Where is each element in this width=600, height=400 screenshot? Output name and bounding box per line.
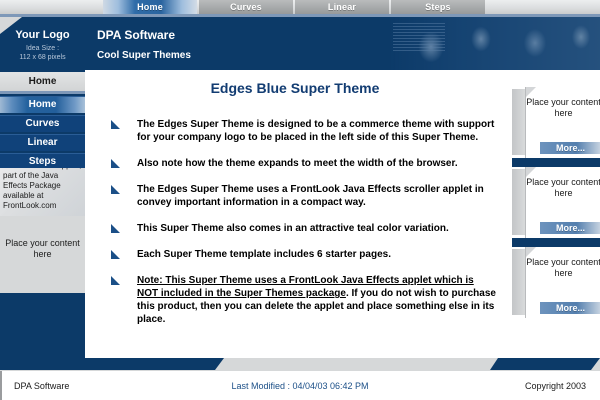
scroller-applet-text: Linear Scroller Applet, part of the Java… — [3, 168, 83, 211]
bullet-text: Also note how the theme expands to meet … — [137, 158, 458, 169]
list-item: The Edges Super Theme uses a FrontLook J… — [111, 183, 496, 209]
right-panel-separator — [512, 158, 600, 167]
more-button[interactable]: More... — [540, 302, 600, 314]
triangle-bullet-icon — [111, 185, 120, 194]
list-item: Each Super Theme template includes 6 sta… — [111, 248, 496, 261]
sidebar-item-linear[interactable]: Linear — [0, 134, 85, 151]
triangle-bullet-icon — [111, 276, 120, 285]
triangle-bullet-icon — [111, 120, 120, 129]
sidebar-item-curves[interactable]: Curves — [0, 115, 85, 132]
top-tab-home[interactable]: Home — [103, 0, 197, 14]
list-item-note: Note: This Super Theme uses a FrontLook … — [111, 274, 496, 326]
sidebar-placeholder-text: Place your content here — [0, 238, 85, 260]
sidebar-header-rule — [0, 91, 85, 94]
triangle-bullet-icon — [111, 159, 120, 168]
bullet-text: The Edges Super Theme is designed to be … — [137, 119, 494, 143]
right-panel-text: Place your content here — [526, 177, 600, 199]
logo-size-label: Idea Size : — [0, 44, 85, 53]
top-tab-list: Home Curves Linear Steps — [103, 0, 487, 14]
top-navigation-bar: Home Curves Linear Steps — [0, 0, 600, 14]
footer-row: DPA Software Last Modified : 04/04/03 06… — [0, 371, 600, 400]
top-tab-linear[interactable]: Linear — [295, 0, 389, 14]
right-panel-separator — [512, 238, 600, 247]
corner-notch-shape — [0, 17, 22, 34]
header-banner: DPA Software Cool Super Themes — [85, 17, 600, 70]
footer-left-edge-rule — [0, 371, 2, 400]
list-item: The Edges Super Theme is designed to be … — [111, 118, 496, 144]
right-panel-2: Place your content here More... — [512, 167, 600, 238]
bullet-text-note: Note: This Super Theme uses a FrontLook … — [137, 275, 496, 325]
more-button[interactable]: More... — [540, 222, 600, 234]
right-panel-box: Place your content here More... — [525, 87, 600, 158]
sidebar-menu: Home Curves Linear Steps — [0, 96, 85, 172]
footer-bar-right-shape — [498, 358, 591, 370]
right-panel-text: Place your content here — [526, 97, 600, 119]
sidebar-header: Home — [0, 72, 85, 91]
right-panel-edge — [512, 89, 525, 155]
right-panel-3: Place your content here More... — [512, 247, 600, 318]
scroller-applet: Linear Scroller Applet, part of the Java… — [0, 168, 85, 216]
logo-size-value: 112 x 68 pixels — [0, 53, 85, 62]
right-panel-box: Place your content here More... — [525, 167, 600, 238]
banner-company-name: DPA Software — [97, 28, 175, 42]
footer-copyright: Copyright 2003 — [525, 381, 586, 391]
right-panel-edge — [512, 249, 525, 315]
triangle-bullet-icon — [111, 224, 120, 233]
right-panel-box: Place your content here More... — [525, 247, 600, 318]
page-title: Edges Blue Super Theme — [85, 80, 505, 96]
top-tab-steps[interactable]: Steps — [391, 0, 485, 14]
more-button[interactable]: More... — [540, 142, 600, 154]
logo-size-hint: Idea Size : 112 x 68 pixels — [0, 44, 85, 62]
page-root: Home Curves Linear Steps Your Logo Idea … — [0, 0, 600, 400]
banner-photo-image — [385, 17, 600, 70]
bullet-text: The Edges Super Theme uses a FrontLook J… — [137, 184, 484, 208]
top-tab-curves[interactable]: Curves — [199, 0, 293, 14]
bullet-text: Each Super Theme template includes 6 sta… — [137, 249, 391, 260]
sidebar-item-home[interactable]: Home — [0, 96, 85, 113]
banner-tagline: Cool Super Themes — [97, 50, 191, 61]
bullet-list: The Edges Super Theme is designed to be … — [111, 118, 496, 339]
right-panel-text: Place your content here — [526, 257, 600, 279]
footer-last-modified: Last Modified : 04/04/03 06:42 PM — [0, 381, 600, 391]
list-item: This Super Theme also comes in an attrac… — [111, 222, 496, 235]
right-panel-edge — [512, 169, 525, 235]
triangle-bullet-icon — [111, 250, 120, 259]
footer-bar-left-shape — [0, 358, 215, 370]
list-item: Also note how the theme expands to meet … — [111, 157, 496, 170]
right-panel-1: Place your content here More... — [512, 87, 600, 158]
bullet-text: This Super Theme also comes in an attrac… — [137, 223, 449, 234]
